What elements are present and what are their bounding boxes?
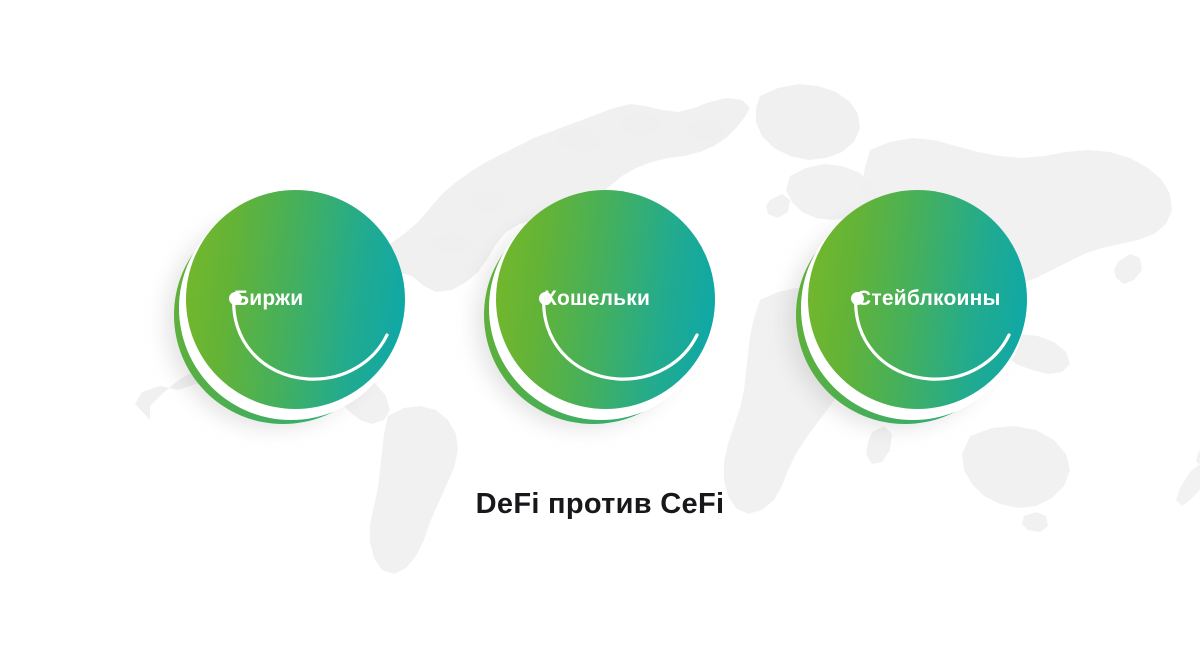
node-stablecoins[interactable]: Стейблкоины — [782, 182, 1042, 442]
page-title: DeFi против CeFi — [0, 488, 1200, 521]
node-wallets[interactable]: Кошельки — [470, 182, 730, 442]
node-label: Стейблкоины — [856, 282, 1001, 316]
node-label: Биржи — [234, 282, 303, 316]
node-exchanges[interactable]: Биржи — [160, 182, 420, 442]
infographic-canvas: Биржи Кошельки Стейблкоины DeFi против C… — [0, 0, 1200, 650]
node-label: Кошельки — [544, 282, 650, 316]
